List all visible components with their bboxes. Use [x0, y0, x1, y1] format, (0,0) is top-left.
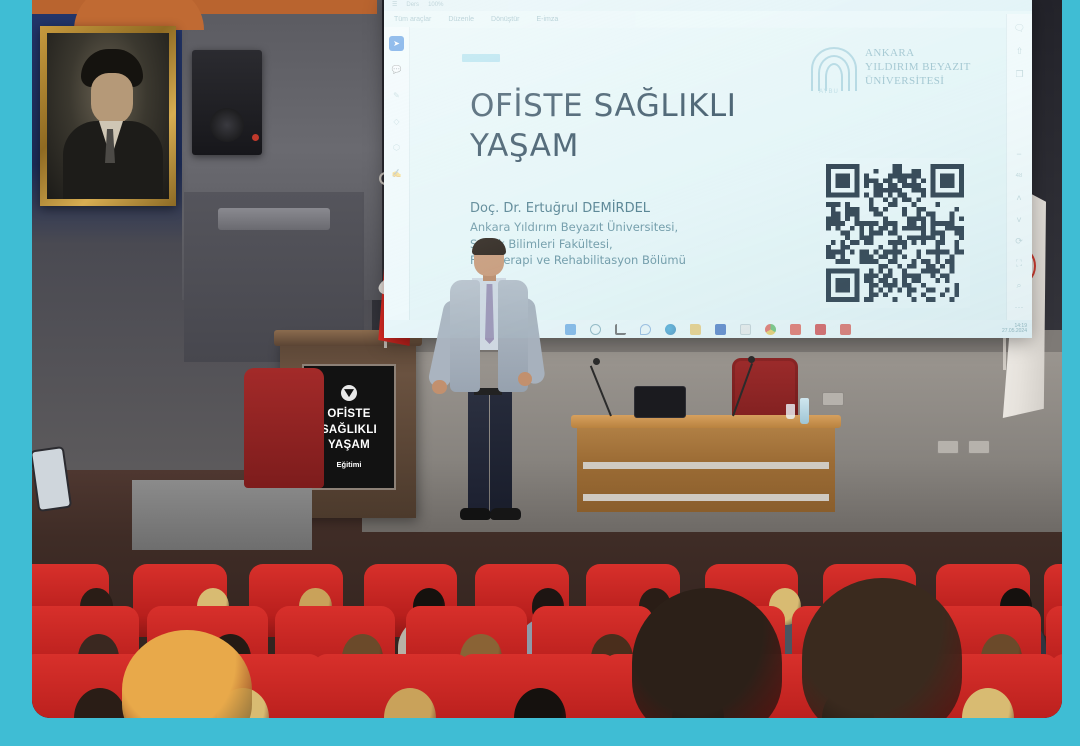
menu-item-duzenle[interactable]: Düzenle	[448, 16, 474, 23]
presenter-hand-right	[518, 372, 532, 386]
search-icon[interactable]: ⌕	[1013, 279, 1026, 292]
microphone-left-head	[593, 358, 600, 365]
university-name: ANKARA YILDIRIM BEYAZIT ÜNİVERSİTESİ	[865, 46, 971, 88]
more-icon[interactable]: ⋯	[1013, 301, 1026, 314]
qr-code	[820, 158, 970, 308]
wall-socket	[822, 392, 844, 406]
university-logo: AYBU ANKARA YILDIRIM BEYAZIT ÜNİVERSİTES…	[811, 36, 976, 98]
aybu-abbreviation: AYBU	[819, 89, 839, 95]
university-name-line2: YILDIRIM BEYAZIT	[865, 60, 971, 74]
highlight-tool-icon[interactable]: ✎	[389, 88, 404, 103]
rotate-icon[interactable]: ⟳	[1013, 235, 1026, 248]
word-icon[interactable]	[715, 324, 726, 335]
edge-icon[interactable]	[665, 324, 676, 335]
lectern-sign-line1: OFİSTE	[327, 408, 370, 422]
hamburger-icon[interactable]: ☰	[392, 1, 397, 8]
chrome-icon[interactable]	[765, 324, 776, 335]
share-icon[interactable]: ⇧	[1013, 45, 1026, 58]
slide-title: OFİSTE SAĞLIKLI YAŞAM	[470, 86, 800, 167]
page-down-icon[interactable]: ˅	[1013, 213, 1026, 226]
aybu-arch-icon: AYBU	[811, 41, 859, 93]
portrait-canvas	[47, 33, 169, 199]
search-icon[interactable]	[590, 324, 601, 335]
fit-page-icon[interactable]: ⛶	[1013, 257, 1026, 270]
presenter-name: Doç. Dr. Ertuğrul DEMİRDEL	[470, 200, 780, 218]
acrobat-zoom-label[interactable]: 100%	[428, 2, 443, 8]
pages-icon[interactable]: ❐	[1013, 68, 1026, 81]
smartphone	[32, 446, 72, 512]
menu-item-tum-araclar[interactable]: Tüm araçlar	[394, 16, 431, 23]
auditorium-seat	[1050, 654, 1062, 718]
acrobat-icon[interactable]	[815, 324, 826, 335]
comment-tool-icon[interactable]: 💬	[389, 62, 404, 77]
acrobat-right-bottom-tools: − 48 ˄ ˅ ⟳ ⛶ ⌕ ⋯	[1006, 147, 1032, 314]
lectern-logo-icon	[341, 385, 357, 401]
menu-item-donustur[interactable]: Dönüştür	[491, 16, 519, 23]
zoom-level-label[interactable]: 48	[1013, 169, 1026, 182]
acrobat-file-name: Ders	[406, 2, 419, 8]
lectern-sign-line2: SAĞLIKLI	[321, 424, 377, 438]
wall-speaker	[192, 50, 262, 155]
university-name-line3: ÜNİVERSİTESİ	[865, 74, 971, 88]
audience-seating	[32, 438, 1062, 718]
qr-code-canvas	[826, 164, 964, 302]
acrobat-titlebar: ☰ Ders 100%	[384, 0, 1032, 11]
signature-tool-icon[interactable]: ✍	[389, 166, 404, 181]
presenter-jacket-left	[450, 280, 480, 392]
start-icon[interactable]	[565, 324, 576, 335]
shape-tool-icon[interactable]: ◇	[389, 114, 404, 129]
cabinet-handle-bar	[218, 208, 330, 230]
portrait-face	[91, 73, 133, 125]
office-icon[interactable]	[840, 324, 851, 335]
microphone-right-head	[748, 356, 755, 363]
store-icon[interactable]	[740, 324, 751, 335]
presenter-hand-left	[432, 380, 447, 394]
acrobat-menubar: Tüm araçlar Düzenle Dönüştür E-imza	[384, 11, 1032, 27]
clock-date: 27.05.2024	[1002, 329, 1027, 335]
acrobat-left-toolbar: ➤ 💬 ✎ ◇ ⬡ ✍	[384, 27, 410, 320]
seminar-photo: OFİSTE SAĞLIKLI YAŞAM Eğitimi ☰ Ders 100…	[32, 0, 1062, 718]
page-up-icon[interactable]: ˄	[1013, 191, 1026, 204]
ataturk-portrait	[40, 26, 176, 206]
chat-icon[interactable]	[640, 324, 651, 335]
menu-item-eimza[interactable]: E-imza	[536, 16, 558, 23]
text-highlight-mark	[462, 54, 500, 62]
file-explorer-icon[interactable]	[690, 324, 701, 335]
university-name-line1: ANKARA	[865, 46, 971, 60]
laptop	[635, 387, 685, 417]
taskbar-clock[interactable]: 14:19 27.05.2024	[1002, 324, 1027, 335]
zoom-out-icon[interactable]: −	[1013, 147, 1026, 160]
presenter-hair	[472, 238, 506, 255]
stamp-tool-icon[interactable]: ⬡	[389, 140, 404, 155]
water-glass	[786, 404, 795, 419]
turquoise-frame: OFİSTE SAĞLIKLI YAŞAM Eğitimi ☰ Ders 100…	[0, 0, 1080, 746]
affiliation-line-1: Ankara Yıldırım Beyazıt Üniversitesi,	[470, 219, 780, 235]
comment-panel-icon[interactable]: 🗨	[1013, 22, 1026, 35]
pdf-viewer-icon[interactable]	[790, 324, 801, 335]
task-view-icon[interactable]	[615, 324, 626, 335]
select-tool-icon[interactable]: ➤	[389, 36, 404, 51]
water-bottle	[800, 398, 809, 424]
